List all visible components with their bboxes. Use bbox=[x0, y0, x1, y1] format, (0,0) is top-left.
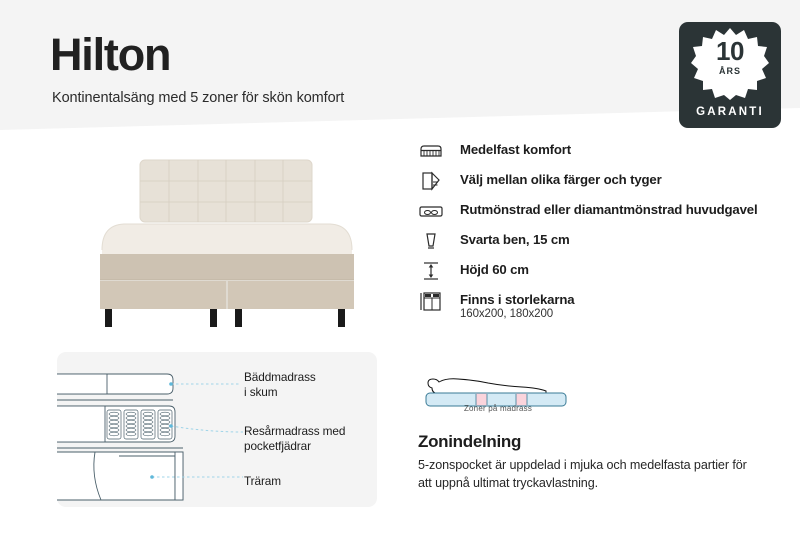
warranty-years: 10 bbox=[679, 36, 781, 67]
feature-item: Välj mellan olika färger och tyger bbox=[418, 168, 788, 198]
feature-label: Välj mellan olika färger och tyger bbox=[460, 172, 662, 187]
mattress-icon bbox=[418, 138, 444, 164]
cutaway-label-frame: Träram bbox=[244, 474, 281, 489]
feature-item: Rutmönstrad eller diamantmönstrad huvudg… bbox=[418, 198, 788, 228]
feature-label: Rutmönstrad eller diamantmönstrad huvudg… bbox=[460, 202, 758, 217]
feature-item: Finns i storlekarna 160x200, 180x200 bbox=[418, 288, 788, 318]
feature-sublabel: 160x200, 180x200 bbox=[460, 308, 553, 320]
page-subtitle: Kontinentalsäng med 5 zoner för skön kom… bbox=[52, 90, 344, 106]
warranty-badge: 10 ÅRS GARANTI bbox=[679, 22, 781, 128]
feature-item: Svarta ben, 15 cm bbox=[418, 228, 788, 258]
fabric-swatch-icon bbox=[418, 168, 444, 194]
zone-illustration bbox=[418, 368, 578, 408]
bed-size-icon bbox=[418, 288, 444, 314]
height-arrow-icon bbox=[418, 258, 444, 284]
zone-description: 5-zonspocket är uppdelad i mjuka och med… bbox=[418, 456, 758, 493]
feature-label: Finns i storlekarna bbox=[460, 292, 574, 307]
headboard-icon bbox=[418, 198, 444, 224]
feature-list: Medelfast komfort Välj mellan olika färg… bbox=[418, 138, 788, 318]
feature-label: Svarta ben, 15 cm bbox=[460, 232, 570, 247]
zone-caption: Zoner på madrass bbox=[418, 404, 578, 413]
feature-item: Höjd 60 cm bbox=[418, 258, 788, 288]
bed-leg-icon bbox=[418, 228, 444, 254]
zone-heading: Zonindelning bbox=[418, 432, 521, 452]
page-title: Hilton bbox=[50, 32, 170, 77]
warranty-period: ÅRS bbox=[679, 66, 781, 76]
warranty-label: GARANTI bbox=[679, 106, 781, 118]
feature-item: Medelfast komfort bbox=[418, 138, 788, 168]
product-info-sheet: Hilton Kontinentalsäng med 5 zoner för s… bbox=[0, 0, 800, 533]
cutaway-label-topper: Bäddmadrass i skum bbox=[244, 370, 316, 400]
feature-label: Höjd 60 cm bbox=[460, 262, 529, 277]
feature-label: Medelfast komfort bbox=[460, 142, 571, 157]
bed-photo bbox=[62, 140, 392, 340]
cutaway-label-spring: Resårmadrass med pocketfjädrar bbox=[244, 424, 345, 454]
